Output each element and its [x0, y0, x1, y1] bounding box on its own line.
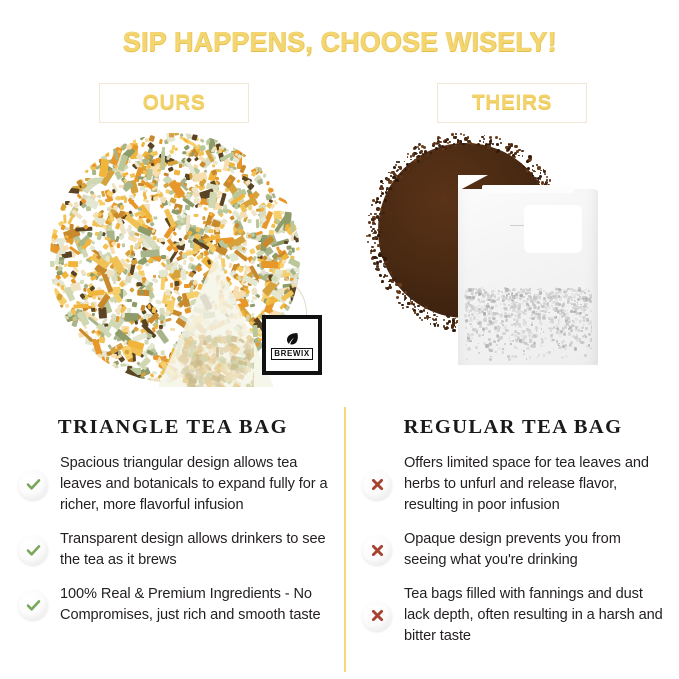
- list-item: Tea bags filled with fannings and dust l…: [352, 584, 674, 647]
- comparison-title-ours: TRIANGLE TEA BAG: [8, 416, 338, 439]
- list-item-label: Spacious triangular design allows tea le…: [60, 453, 332, 516]
- check-icon: [18, 590, 48, 620]
- list-item: Opaque design prevents you from seeing w…: [352, 529, 674, 571]
- leaf-icon: [284, 331, 300, 347]
- list-item: Offers limited space for tea leaves and …: [352, 453, 674, 516]
- brand-logo-badge: BREWIX: [262, 315, 322, 375]
- pyramid-contents: [178, 335, 254, 387]
- brand-wordmark: BREWIX: [271, 348, 313, 360]
- column-header-theirs-label: THEIRS: [472, 91, 552, 115]
- column-header-theirs: THEIRS: [437, 83, 587, 123]
- regular-tea-bag: [458, 175, 598, 365]
- column-header-ours-label: OURS: [143, 91, 206, 115]
- list-item-label: Offers limited space for tea leaves and …: [404, 453, 666, 516]
- benefit-list-ours: Spacious triangular design allows tea le…: [8, 453, 338, 626]
- check-icon: [18, 470, 48, 500]
- list-item: Transparent design allows drinkers to se…: [8, 529, 338, 571]
- list-item-label: 100% Real & Premium Ingredients - No Com…: [60, 584, 332, 626]
- list-item-label: Tea bags filled with fannings and dust l…: [404, 584, 666, 647]
- cross-icon: [362, 535, 392, 565]
- page-title: SIP HAPPENS, CHOOSE WISELY!: [14, 26, 666, 58]
- list-item-label: Opaque design prevents you from seeing w…: [404, 529, 666, 571]
- comparison-title-theirs: REGULAR TEA BAG: [352, 416, 674, 439]
- column-divider: [344, 407, 346, 672]
- check-icon: [18, 535, 48, 565]
- comparison-column-theirs: REGULAR TEA BAG Offers limited space for…: [352, 416, 674, 660]
- list-item: 100% Real & Premium Ingredients - No Com…: [8, 584, 338, 626]
- cross-icon: [362, 601, 392, 631]
- drawback-list-theirs: Offers limited space for tea leaves and …: [352, 453, 674, 647]
- tea-bag-top-lip: [482, 185, 574, 193]
- column-header-ours: OURS: [99, 83, 249, 123]
- list-item: Spacious triangular design allows tea le…: [8, 453, 338, 516]
- tea-bag-tag: [524, 205, 582, 253]
- cross-icon: [362, 470, 392, 500]
- product-image-theirs: [360, 125, 670, 400]
- triangle-tea-bag: [158, 255, 274, 387]
- tea-bag-contents: [464, 283, 592, 361]
- comparison-column-ours: TRIANGLE TEA BAG Spacious triangular des…: [8, 416, 338, 639]
- list-item-label: Transparent design allows drinkers to se…: [60, 529, 332, 571]
- product-image-ours: BREWIX: [30, 125, 350, 400]
